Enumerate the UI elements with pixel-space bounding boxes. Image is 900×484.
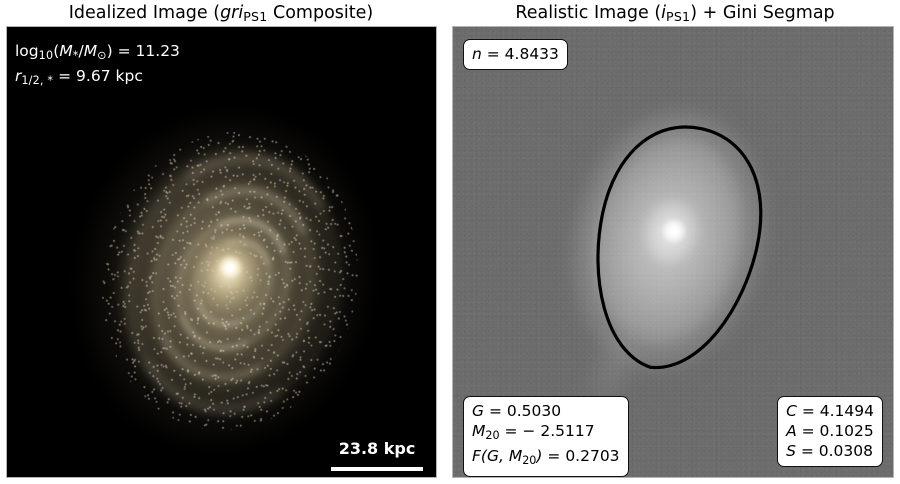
scale-bar-label: 23.8 kpc [325,439,429,459]
idealized-galaxy-render [7,27,436,477]
f-gini-value: 0.2703 [565,447,619,465]
asymmetry-value: 0.1025 [820,422,874,440]
concentration-value: 4.1494 [820,402,874,420]
smoothness-symbol: S [786,442,796,460]
mass-symbol: M [59,42,72,60]
radius-subscript: 1/2, * [21,74,53,87]
concentration-equals: = [797,402,820,420]
gini-equals: = [484,402,507,420]
stellar-mass-value: 11.23 [136,42,180,60]
stellar-mass-annotation: log10(M*/M⊙) = 11.23 [15,41,180,66]
scale-bar-group: 23.8 kpc [325,439,429,471]
left-panel-title: Idealized Image (griPS1 Composite) [5,1,437,25]
sersic-index-box: n = 4.8433 [463,39,568,70]
right-panel-title: Realistic Image (iPS1) + Gini Segmap [452,1,898,25]
f-gini-equals: = [542,447,565,465]
idealized-image-panel: log10(M*/M⊙) = 11.23 r1/2, * = 9.67 kpc … [6,26,437,478]
concentration-line: C = 4.1494 [786,401,874,421]
sersic-symbol: n [472,45,482,63]
gini-value: 0.5030 [507,402,561,420]
left-title-suffix: Composite) [267,3,373,23]
radius-equals: = [53,67,76,85]
cas-statistics-box: C = 4.1494 A = 0.1025 S = 0.0308 [777,396,883,467]
idealized-annotations: log10(M*/M⊙) = 11.23 r1/2, * = 9.67 kpc [15,41,180,91]
sersic-equals: = [482,45,505,63]
sersic-value: 4.8433 [505,45,559,63]
left-title-subscript: PS1 [243,9,267,24]
m20-subscript: 20 [485,429,499,442]
right-title-subscript: PS1 [666,9,690,24]
f-gini-prefix: F(G, M [472,447,522,465]
gini-line: G = 0.5030 [472,401,620,421]
right-title-suffix: ) + Gini Segmap [690,3,834,23]
figure-root: Idealized Image (griPS1 Composite) Reali… [0,0,900,484]
scale-bar-line [331,467,423,471]
gini-m20-box: G = 0.5030 M20 = − 2.5117 F(G, M20) = 0.… [463,396,629,477]
gini-symbol: G [472,402,484,420]
smoothness-equals: = [796,442,819,460]
smoothness-value: 0.0308 [819,442,873,460]
f-gini-m20-line: F(G, M20) = 0.2703 [472,446,620,471]
m20-symbol: M [472,422,485,440]
m20-equals: = [500,422,523,440]
radius-value: 9.67 [76,67,111,85]
log-base-subscript: 10 [39,49,54,62]
half-mass-radius-annotation: r1/2, * = 9.67 kpc [15,66,180,91]
mass-star-subscript: * [73,49,79,62]
m20-value: − 2.5117 [522,422,594,440]
right-title-prefix: Realistic Image ( [515,3,661,23]
sersic-index-line: n = 4.8433 [472,44,559,64]
m20-line: M20 = − 2.5117 [472,421,620,446]
mass-equals: = [113,42,136,60]
left-title-italic: gri [220,3,243,23]
asymmetry-symbol: A [786,422,797,440]
sun-mass-symbol: M [84,42,97,60]
smoothness-line: S = 0.0308 [786,441,874,461]
sun-subscript: ⊙ [97,49,107,62]
f-gini-subscript: 20 [522,454,536,467]
asymmetry-line: A = 0.1025 [786,421,874,441]
segmap-outline-path [573,112,778,384]
concentration-symbol: C [786,402,797,420]
realistic-image-panel: n = 4.8433 G = 0.5030 M20 = − 2.5117 F(G… [452,26,894,478]
asymmetry-equals: = [797,422,820,440]
star-speckle-overlay [77,110,384,453]
left-title-prefix: Idealized Image ( [69,3,220,23]
radius-unit: kpc [116,67,143,85]
